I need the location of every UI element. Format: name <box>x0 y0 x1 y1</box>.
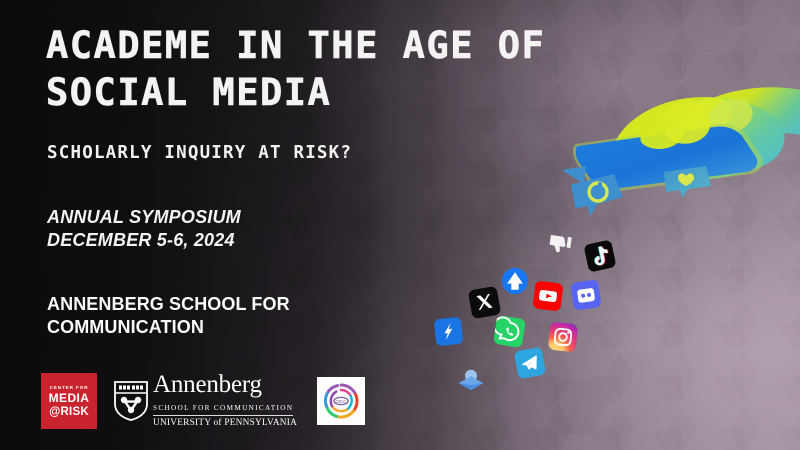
org-line-1: ANNENBERG SCHOOL FOR <box>47 293 347 316</box>
org-line-2: COMMUNICATION <box>47 316 347 339</box>
odc-circular-swirl-icon: ODC <box>321 381 361 421</box>
poster-subtitle: SCHOLARLY INQUIRY AT RISK? <box>47 143 352 163</box>
event-dates: DECEMBER 5-6, 2024 <box>47 229 241 252</box>
page-title: ACADEME IN THE AGE OF SOCIAL MEDIA <box>46 22 606 116</box>
center-for-media-at-risk-logo: CENTER FOR MEDIA @RISK <box>41 373 97 429</box>
organization-name: ANNENBERG SCHOOL FOR COMMUNICATION <box>47 293 347 339</box>
media-risk-line-1: CENTER FOR <box>50 384 89 391</box>
penn-wordmark-text: Annenberg SCHOOL FOR COMMUNICATION UNIVE… <box>153 373 297 430</box>
penn-subline-school: SCHOOL FOR COMMUNICATION <box>153 403 293 416</box>
event-details: ANNUAL SYMPOSIUM DECEMBER 5-6, 2024 <box>47 206 241 252</box>
title-line-2: SOCIAL MEDIA <box>46 69 606 116</box>
annenberg-penn-logo: Annenberg SCHOOL FOR COMMUNICATION UNIVE… <box>114 373 297 430</box>
logo-row: CENTER FOR MEDIA @RISK <box>41 370 365 432</box>
media-risk-line-3: @RISK <box>49 405 89 419</box>
event-label: ANNUAL SYMPOSIUM <box>47 206 241 229</box>
symposium-poster: ACADEME IN THE AGE OF SOCIAL MEDIA SCHOL… <box>0 0 800 450</box>
annenberg-wordmark: Annenberg <box>153 373 297 397</box>
poster-text-content: ACADEME IN THE AGE OF SOCIAL MEDIA SCHOL… <box>0 0 800 450</box>
odc-label: ODC <box>335 399 346 404</box>
odc-logo: ODC <box>317 377 365 425</box>
penn-subline-university: UNIVERSITY of PENNSYLVANIA <box>153 417 297 430</box>
penn-shield-icon <box>114 381 148 421</box>
media-risk-line-2: MEDIA <box>49 391 90 405</box>
title-line-1: ACADEME IN THE AGE OF <box>46 24 545 67</box>
